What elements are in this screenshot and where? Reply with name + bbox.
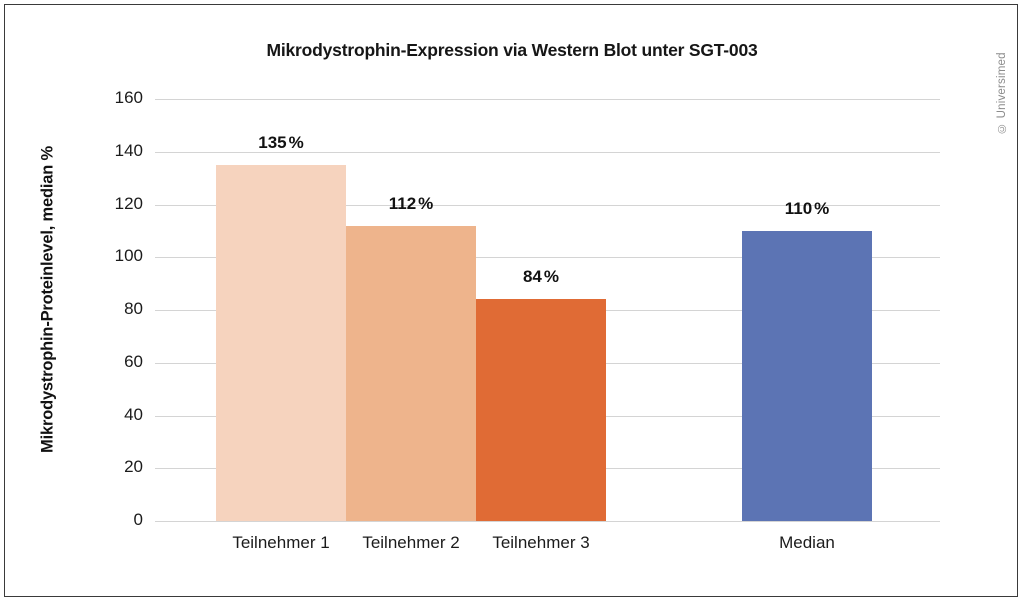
x-axis-category-label-3: Teilnehmer 3 xyxy=(456,533,626,553)
y-axis-tick-label: 160 xyxy=(83,88,143,108)
bar-value-label-3: 84% xyxy=(476,267,606,287)
y-axis-tick-label: 0 xyxy=(83,510,143,530)
chart-title: Mikrodystrophin-Expression via Western B… xyxy=(0,40,1024,61)
bar-value-label-4: 110% xyxy=(742,199,872,219)
y-axis-tick-label: 40 xyxy=(83,405,143,425)
y-axis-tick-label: 80 xyxy=(83,299,143,319)
bar-value-label-2: 112% xyxy=(346,194,476,214)
chart-figure: Mikrodystrophin-Expression via Western B… xyxy=(0,0,1024,602)
bar-4 xyxy=(742,231,872,521)
copyright-watermark: © Universimed xyxy=(996,14,1014,134)
y-axis-tick-label: 60 xyxy=(83,352,143,372)
gridline xyxy=(155,99,940,100)
y-axis-tick-label: 100 xyxy=(83,246,143,266)
y-axis-tick-label: 20 xyxy=(83,457,143,477)
y-axis-tick-label: 140 xyxy=(83,141,143,161)
bar-value-label-1: 135% xyxy=(216,133,346,153)
bar-2 xyxy=(346,226,476,521)
gridline xyxy=(155,521,940,522)
x-axis-category-label-4: Median xyxy=(722,533,892,553)
y-axis-title: Mikrodystrophin-Proteinlevel, median % xyxy=(39,100,58,500)
bar-3 xyxy=(476,299,606,521)
y-axis-tick-label: 120 xyxy=(83,194,143,214)
plot-area: 020406080100120140160 135%112%84%110% Te… xyxy=(155,99,940,521)
bar-1 xyxy=(216,165,346,521)
